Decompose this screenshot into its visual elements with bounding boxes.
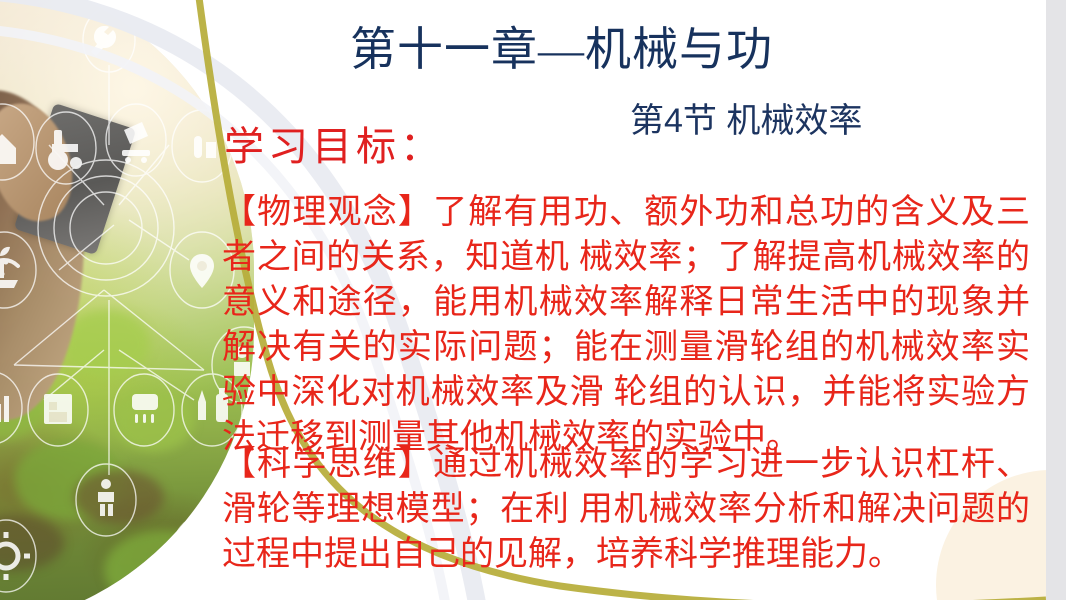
page-title: 第十一章—机械与功 [350,26,990,74]
learning-objectives-heading: 学习目标： [224,126,444,168]
slide-canvas: 第十一章—机械与功 第4节 机械效率 学习目标： 【物理观念】了解有用功、额外功… [0,0,1066,600]
objective-paragraph-scientific-thinking: 【科学思维】通过机械效率的学习进一步认识杠杆、滑轮等理想模型；在利 用机械效率分… [222,442,1030,577]
right-edge-gutter [1046,0,1066,600]
section-subtitle: 第4节 机械效率 [630,104,862,140]
slide-content: 第十一章—机械与功 第4节 机械效率 学习目标： 【物理观念】了解有用功、额外功… [0,0,1066,600]
objective-paragraph-physics-concept: 【物理观念】了解有用功、额外功和总功的含义及三者之间的关系，知道机 械效率；了解… [222,190,1030,460]
